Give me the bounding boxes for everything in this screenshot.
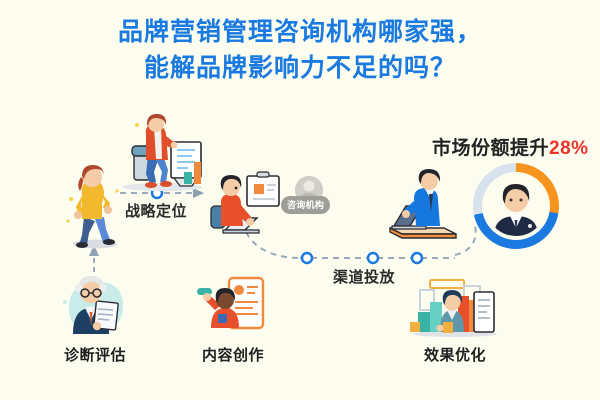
businessman-avatar-icon — [486, 176, 546, 236]
kpi-headline: 市场份额提升28% — [432, 133, 589, 160]
kpi-label: 市场份额提升 — [432, 138, 549, 159]
consulting-agency-badge[interactable]: 咨询机构 — [281, 176, 337, 224]
title-line-2: 能解品牌影响力不足的吗？ — [0, 50, 600, 86]
flow-label-channel: 渠道投放 — [333, 266, 395, 287]
elder-reviewer-illustration — [57, 276, 133, 338]
node-label-diagnosis: 诊断评估 — [45, 344, 145, 365]
page-title: 品牌营销管理咨询机构哪家强， 能解品牌影响力不足的吗？ — [0, 14, 600, 87]
market-share-donut-chart — [473, 163, 559, 249]
node-label-content: 内容创作 — [183, 344, 283, 365]
infographic-canvas: 品牌营销管理咨询机构哪家强， 能解品牌影响力不足的吗？ — [0, 0, 600, 400]
laptop-person-orange-illustration — [207, 172, 287, 238]
laptop-person-blue-illustration — [382, 168, 464, 242]
agency-badge-label: 咨询机构 — [281, 196, 330, 214]
node-label-optimization: 效果优化 — [405, 344, 505, 365]
content-creator-illustration — [195, 276, 271, 338]
kpi-value: 28% — [549, 138, 589, 159]
walking-woman-illustration — [62, 163, 124, 249]
presenting-woman-illustration — [116, 116, 208, 192]
optimization-scene-illustration — [410, 276, 500, 338]
flow-label-strategy: 战略定位 — [125, 200, 187, 221]
title-line-1: 品牌营销管理咨询机构哪家强， — [0, 14, 600, 50]
